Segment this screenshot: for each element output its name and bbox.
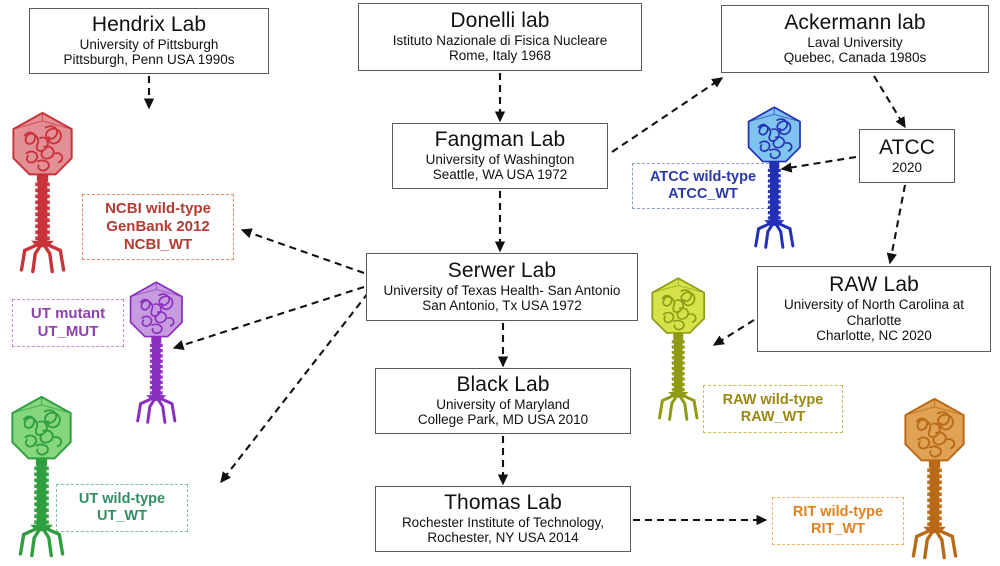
edge-ackermann-to-atcc	[874, 76, 905, 127]
tail	[768, 167, 781, 221]
lab-box-ackermann[interactable]: Ackermann lab Laval University Quebec, C…	[721, 5, 989, 73]
lab-institution: University of Texas Health- San Antonio	[384, 283, 621, 299]
tail	[672, 339, 685, 394]
lab-title: Donelli lab	[450, 10, 549, 33]
lab-box-fangman[interactable]: Fangman Lab University of Washington Sea…	[392, 123, 608, 189]
lab-institution: University of North Carolina at Charlott…	[762, 297, 986, 328]
capsid	[13, 113, 71, 175]
phage-purple	[126, 278, 198, 428]
strain-line-2: UT_WT	[97, 508, 147, 525]
strain-tag-raw-wt[interactable]: RAW wild-type RAW_WT	[703, 385, 843, 433]
lab-title: Ackermann lab	[784, 12, 925, 35]
strain-line-2: RAW_WT	[741, 409, 805, 426]
lab-box-black[interactable]: Black Lab University of Maryland College…	[375, 368, 631, 434]
lab-location: Rome, Italy 1968	[449, 48, 551, 64]
capsid	[131, 282, 182, 336]
lab-location: Pittsburgh, Penn USA 1990s	[63, 52, 234, 68]
lab-institution: Istituto Nazionale di Fisica Nucleare	[393, 33, 608, 49]
phage-orange	[900, 394, 982, 564]
edge-serwer-to-ut-wt	[221, 293, 368, 482]
strain-line-2: ATCC_WT	[668, 186, 738, 203]
lab-title: RAW Lab	[829, 274, 919, 297]
strain-line-2: RIT_WT	[811, 521, 865, 538]
lab-box-hendrix[interactable]: Hendrix Lab University of Pittsburgh Pit…	[29, 8, 269, 74]
strain-line-1: RAW wild-type	[723, 392, 824, 409]
lab-location: Charlotte, NC 2020	[816, 328, 932, 344]
lab-institution: University of Pittsburgh	[80, 37, 219, 53]
lab-title: Hendrix Lab	[92, 14, 206, 37]
lab-institution: Laval University	[807, 35, 902, 51]
lab-box-thomas[interactable]: Thomas Lab Rochester Institute of Techno…	[375, 486, 631, 552]
phage-green	[6, 392, 90, 562]
strain-line-1: NCBI wild-type	[105, 200, 211, 218]
edge-serwer-to-phage-purple	[174, 287, 364, 348]
lab-title: Thomas Lab	[444, 492, 562, 515]
collar	[769, 162, 779, 168]
strain-line-1: UT mutant	[31, 305, 105, 323]
edge-raw-to-phage-olive	[714, 320, 754, 345]
lab-institution: University of Washington	[426, 152, 575, 168]
collar	[929, 460, 940, 467]
capsid	[652, 278, 704, 333]
collar	[36, 458, 47, 465]
lab-location: Seattle, WA USA 1972	[433, 167, 568, 183]
lab-institution: Rochester Institute of Technology,	[402, 515, 604, 531]
strain-line-2: GenBank 2012	[106, 218, 209, 236]
strain-line-1: ATCC wild-type	[650, 169, 756, 186]
tail	[35, 181, 50, 243]
lab-box-atcc[interactable]: ATCC 2020	[859, 129, 955, 183]
lab-title: Fangman Lab	[435, 129, 566, 152]
lab-location: San Antonio, Tx USA 1972	[422, 298, 582, 314]
capsid	[905, 399, 963, 461]
collar	[151, 337, 161, 343]
lab-box-donelli[interactable]: Donelli lab Istituto Nazionale di Fisica…	[358, 3, 642, 71]
lab-box-raw[interactable]: RAW Lab University of North Carolina at …	[757, 266, 991, 352]
tail	[150, 342, 163, 396]
lab-title: Serwer Lab	[448, 260, 556, 283]
strain-tag-ncbi[interactable]: NCBI wild-type GenBank 2012 NCBI_WT	[82, 194, 234, 260]
strain-line-1: RIT wild-type	[793, 504, 883, 521]
phage-olive	[648, 272, 720, 427]
strain-line-1: UT wild-type	[79, 491, 165, 508]
lab-institution: University of Maryland	[436, 397, 570, 413]
tail	[927, 467, 942, 529]
capsid	[12, 397, 70, 459]
collar	[37, 174, 48, 181]
lab-title: Black Lab	[456, 374, 549, 397]
lab-location: College Park, MD USA 2010	[418, 412, 588, 428]
collar	[673, 333, 683, 339]
lab-year: 2020	[892, 160, 922, 176]
strain-tag-ut-mut[interactable]: UT mutant UT_MUT	[12, 299, 124, 347]
phage-blue	[742, 103, 818, 253]
diagram-canvas: Hendrix Lab University of Pittsburgh Pit…	[0, 0, 1000, 566]
lab-title: ATCC	[879, 137, 935, 160]
phage-red	[8, 108, 90, 278]
lab-location: Quebec, Canada 1980s	[784, 50, 927, 66]
strain-line-3: NCBI_WT	[124, 236, 192, 254]
strain-tag-rit-wt[interactable]: RIT wild-type RIT_WT	[772, 497, 904, 545]
lab-location: Rochester, NY USA 2014	[427, 530, 578, 546]
strain-line-2: UT_MUT	[38, 323, 99, 341]
lab-box-serwer[interactable]: Serwer Lab University of Texas Health- S…	[366, 253, 638, 321]
edge-serwer-to-ncbi	[242, 230, 364, 273]
capsid	[749, 107, 800, 161]
edge-atcc-to-raw	[890, 185, 905, 263]
edge-fangman-to-ackermann	[612, 78, 722, 152]
tail	[34, 465, 49, 527]
